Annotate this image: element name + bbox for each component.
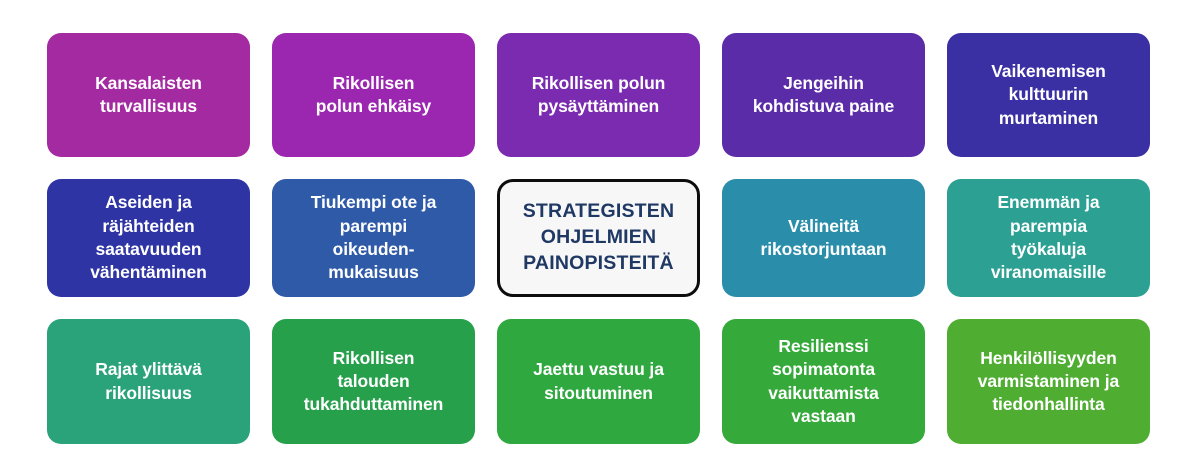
tile-rikollisen-polun-ehkaisy: Rikollisen polun ehkäisy xyxy=(272,33,475,157)
tile-tiukempi-ote-ja-parempi-oikeudenmukaisuus: Tiukempi ote ja parempi oikeuden- mukais… xyxy=(272,179,475,297)
tile-label: Jengeihin kohdistuva paine xyxy=(732,72,915,119)
tile-rikollisen-talouden-tukahduttaminen: Rikollisen talouden tukahduttaminen xyxy=(272,319,475,444)
tile-label: Henkilöllisyyden varmistaminen ja tiedon… xyxy=(957,347,1140,417)
tile-henkilollisyyden-varmistaminen-ja-tiedonhallinta: Henkilöllisyyden varmistaminen ja tiedon… xyxy=(947,319,1150,444)
tile-rajat-ylittava-rikollisuus: Rajat ylittävä rikollisuus xyxy=(47,319,250,444)
tile-vaikenemisen-kulttuurin-murtaminen: Vaikenemisen kulttuurin murtaminen xyxy=(947,33,1150,157)
tile-label: Rikollisen polun ehkäisy xyxy=(282,72,465,119)
tile-jengeihin-kohdistuva-paine: Jengeihin kohdistuva paine xyxy=(722,33,925,157)
tile-label: Rajat ylittävä rikollisuus xyxy=(57,358,240,405)
tile-resilienssi-sopimatonta-vaikuttamista-vastaan: Resilienssi sopimatonta vaikuttamista va… xyxy=(722,319,925,444)
tile-grid: Kansalaisten turvallisuusRikollisen polu… xyxy=(47,33,1153,445)
tile-aseiden-ja-rajahteiden-saatavuuden-vahentaminen: Aseiden ja räjähteiden saatavuuden vähen… xyxy=(47,179,250,297)
tile-jaettu-vastuu-ja-sitoutuminen: Jaettu vastuu ja sitoutuminen xyxy=(497,319,700,444)
tile-label: Jaettu vastuu ja sitoutuminen xyxy=(507,358,690,405)
tile-kansalaisten-turvallisuus: Kansalaisten turvallisuus xyxy=(47,33,250,157)
tile-rikollisen-polun-pysayttaminen: Rikollisen polun pysäyttäminen xyxy=(497,33,700,157)
tile-valineita-rikostorjuntaan: Välineitä rikostorjuntaan xyxy=(722,179,925,297)
center-title-label: STRATEGISTEN OHJELMIEN PAINOPISTEITÄ xyxy=(510,199,687,276)
tile-label: Välineitä rikostorjuntaan xyxy=(732,215,915,262)
tile-label: Rikollisen polun pysäyttäminen xyxy=(507,72,690,119)
tile-label: Aseiden ja räjähteiden saatavuuden vähen… xyxy=(57,191,240,284)
strategy-priorities-board: Kansalaisten turvallisuusRikollisen polu… xyxy=(0,0,1200,473)
tile-label: Enemmän ja parempia työkaluja viranomais… xyxy=(957,191,1140,284)
tile-enemman-ja-parempia-tyokaluja-viranomaisille: Enemmän ja parempia työkaluja viranomais… xyxy=(947,179,1150,297)
tile-label: Kansalaisten turvallisuus xyxy=(57,72,240,119)
tile-strategisten-ohjelmien-painopisteita: STRATEGISTEN OHJELMIEN PAINOPISTEITÄ xyxy=(497,179,700,297)
tile-label: Vaikenemisen kulttuurin murtaminen xyxy=(957,60,1140,130)
tile-label: Rikollisen talouden tukahduttaminen xyxy=(282,347,465,417)
tile-label: Resilienssi sopimatonta vaikuttamista va… xyxy=(732,335,915,428)
tile-label: Tiukempi ote ja parempi oikeuden- mukais… xyxy=(282,191,465,284)
